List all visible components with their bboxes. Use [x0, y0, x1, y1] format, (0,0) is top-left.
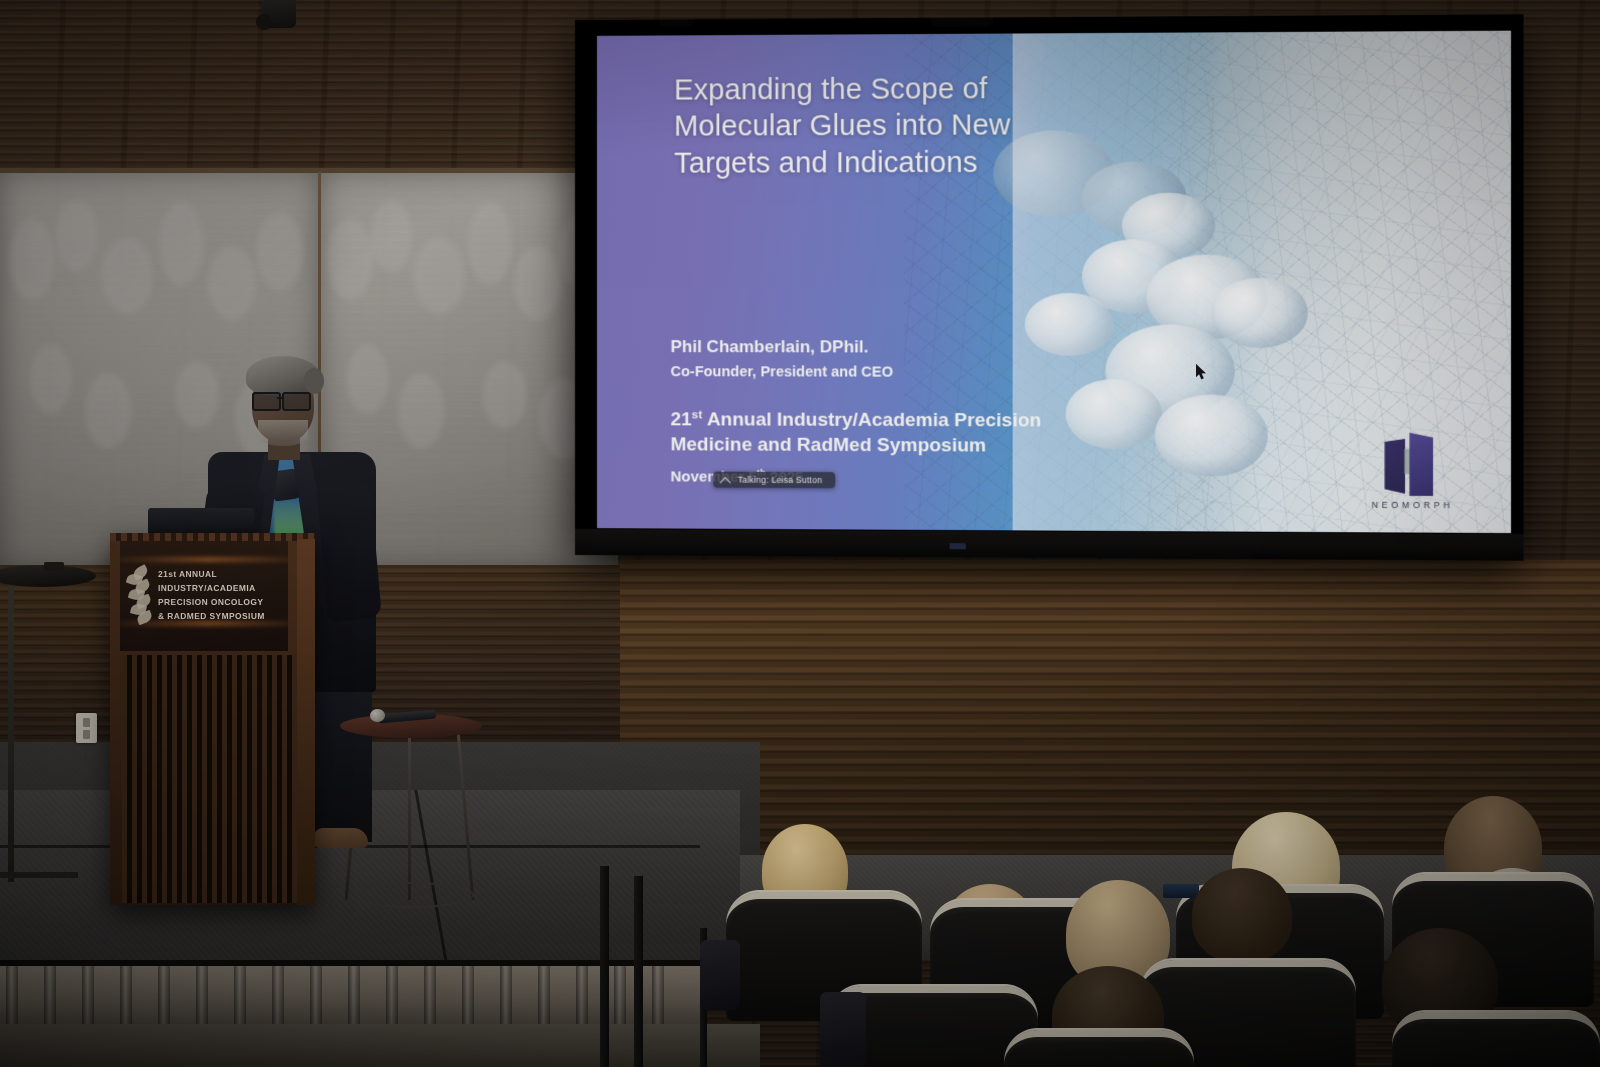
- presenter-laptop[interactable]: [148, 508, 254, 534]
- podium-sign-text: 21st ANNUAL INDUSTRY/ACADEMIA PRECISION …: [158, 567, 284, 623]
- podium-top-edge: [110, 533, 315, 541]
- chevron-up-icon[interactable]: [722, 476, 731, 485]
- event-line-1: 21st Annual Industry/Academia Precision: [671, 408, 1162, 435]
- podium-side-panel: [297, 539, 315, 905]
- ceiling-projector-icon: [262, 0, 296, 28]
- cocktail-table-foot: [0, 872, 78, 878]
- podium-sign-line-1: 21st ANNUAL: [158, 567, 284, 581]
- eyeglasses-icon: [252, 392, 314, 407]
- talking-label: Talking: Leisa Sutton: [738, 475, 822, 485]
- podium-sign-line-4: & RADMED SYMPOSIUM: [158, 609, 284, 623]
- podium-sign-line-2: INDUSTRY/ACADEMIA: [158, 581, 284, 595]
- presenter-name: Phil Chamberlain, DPhil.: [671, 334, 1107, 360]
- event-line-2: Medicine and RadMed Symposium: [671, 433, 1162, 459]
- slide-title-line-1: Expanding the Scope of: [674, 70, 1128, 109]
- slide-title-line-3: Targets and Indications: [674, 144, 1128, 182]
- podium: 21st ANNUAL INDUSTRY/ACADEMIA PRECISION …: [110, 533, 315, 905]
- slide-title-line-2: Molecular Glues into New: [674, 107, 1128, 145]
- power-outlet-icon: [76, 713, 97, 743]
- talking-indicator[interactable]: Talking: Leisa Sutton: [714, 472, 836, 489]
- audience-head-dark-brown: [1192, 868, 1292, 962]
- screen-mount-left: [659, 19, 693, 26]
- cocktail-table-leg: [8, 582, 14, 882]
- screenshot-root: Expanding the Scope of Molecular Glues i…: [0, 0, 1600, 1067]
- screen-mount-center: [931, 17, 994, 26]
- speaker-beard: [258, 420, 308, 446]
- screen-brand-chip: [950, 543, 966, 549]
- wheat-leaf-emblem-icon: [127, 567, 153, 629]
- audience-device-screen: [1163, 884, 1199, 898]
- projection-screen[interactable]: Expanding the Scope of Molecular Glues i…: [575, 14, 1524, 560]
- podium-sign-line-3: PRECISION ONCOLOGY: [158, 595, 284, 609]
- board-trim: [0, 168, 618, 173]
- slide-title: Expanding the Scope of Molecular Glues i…: [674, 70, 1128, 182]
- seat-front-3: [1392, 1012, 1600, 1067]
- side-table-ring: [348, 882, 474, 908]
- mouse-pointer-icon: [1196, 364, 1207, 380]
- speaker-hair: [246, 356, 320, 396]
- front-floor: [0, 1024, 760, 1067]
- podium-sign: 21st ANNUAL INDUSTRY/ACADEMIA PRECISION …: [120, 541, 288, 651]
- neomorph-logo: NEOMORPH: [1370, 432, 1455, 510]
- slide-presenter-block: Phil Chamberlain, DPhil. Co-Founder, Pre…: [671, 334, 1107, 386]
- slide-surface: Expanding the Scope of Molecular Glues i…: [597, 31, 1511, 533]
- stage-skirt: [0, 966, 700, 1028]
- neomorph-mark-icon: [1370, 432, 1455, 496]
- seat-arm-front-1: [820, 992, 866, 1067]
- seat-arm-back-1: [700, 940, 740, 1010]
- podium-slats: [122, 655, 298, 903]
- speaker-shoe: [314, 828, 368, 848]
- seat-front-4: [1004, 1030, 1194, 1067]
- presenter-role: Co-Founder, President and CEO: [671, 361, 1107, 385]
- table-object: [44, 562, 64, 571]
- neomorph-wordmark: NEOMORPH: [1370, 500, 1455, 511]
